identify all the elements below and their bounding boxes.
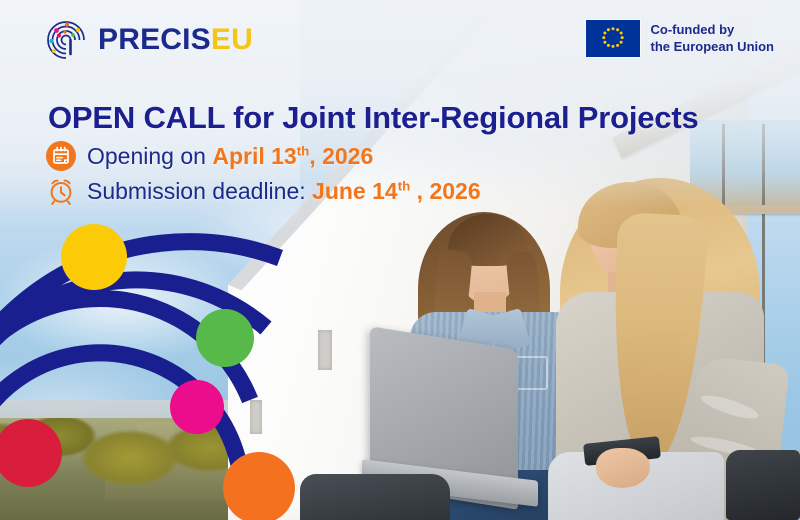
brand-logo[interactable]: PRECISEU [44,18,253,62]
eu-funding-line2: the European Union [651,39,775,54]
brand-name-primary: PRECIS [98,23,211,56]
eu-funding-badge: Co-funded bythe European Union [586,20,775,57]
opening-day: April 13 [212,143,296,169]
brand-wordmark: PRECISEU [98,25,253,55]
opening-year: , 2026 [309,143,373,169]
deadline-date-row: Submission deadline: June 14th , 2026 [46,176,481,206]
eu-flag-icon [586,20,640,57]
opening-ordinal: th [297,143,310,158]
opening-date-row: Opening on April 13th, 2026 [46,141,373,171]
opening-label: Opening on [87,143,212,169]
page-title: OPEN CALL for Joint Inter-Regional Proje… [48,100,699,136]
alarm-clock-icon [46,176,76,206]
deadline-ordinal: th [398,178,411,193]
banner-content: PRECISEU [0,0,800,520]
fingerprint-icon [44,18,88,62]
deadline-date-text: Submission deadline: June 14th , 2026 [87,178,481,205]
deadline-label: Submission deadline: [87,178,312,204]
open-call-banner: PRECISEU [0,0,800,520]
opening-date-text: Opening on April 13th, 2026 [87,143,373,170]
deadline-day: June 14 [312,178,398,204]
brand-name-accent: EU [211,23,253,56]
deadline-year: , 2026 [410,178,480,204]
calendar-icon [46,141,76,171]
eu-funding-text: Co-funded bythe European Union [651,22,775,55]
eu-funding-line1: Co-funded by [651,22,735,37]
